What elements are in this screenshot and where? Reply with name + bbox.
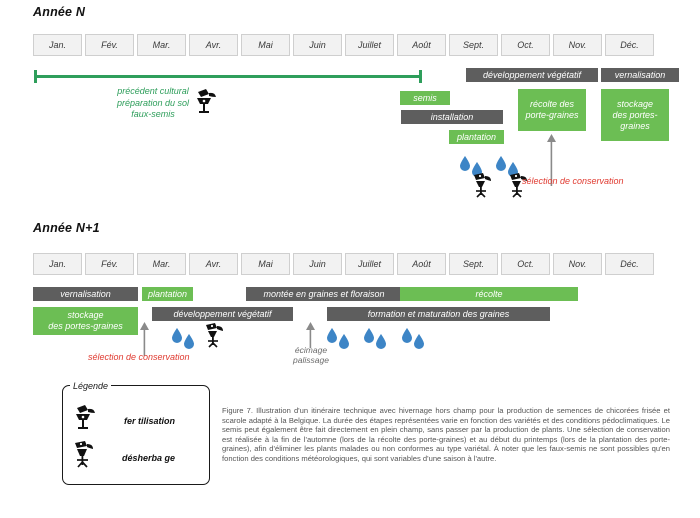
selection-conservation-label-n: sélection de conservation xyxy=(522,176,624,186)
month-cell-nov: Nov. xyxy=(553,253,602,275)
month-cell-fév: Fév. xyxy=(85,34,134,56)
desherbage-icon-n1-1 xyxy=(203,322,225,355)
month-cell-mar: Mar. xyxy=(137,34,186,56)
month-cell-déc: Déc. xyxy=(605,253,654,275)
month-cell-juillet: Juillet xyxy=(345,34,394,56)
month-cell-oct: Oct. xyxy=(501,253,550,275)
fertilisation-icon-n xyxy=(193,88,219,121)
month-cell-avr: Avr. xyxy=(189,34,238,56)
month-cell-mar: Mar. xyxy=(137,253,186,275)
year-n1-title: Année N+1 xyxy=(33,221,100,235)
bar-recolte-line2: porte-graines xyxy=(525,110,578,121)
month-cell-sept: Sept. xyxy=(449,253,498,275)
ecimage-label-line2: palissage xyxy=(272,355,350,365)
bar-montee-graines-floraison-n1: montée en graines et floraison xyxy=(246,287,402,301)
bar-developpement-vegetatif-n1: développement végétatif xyxy=(152,307,293,321)
bar-plantation-n: plantation xyxy=(449,130,504,144)
desherbage-icon xyxy=(72,440,96,475)
figure-canvas: Année N Jan.Fév.Mar.Avr.MaiJuinJuilletAo… xyxy=(0,0,700,518)
month-cell-fév: Fév. xyxy=(85,253,134,275)
month-cell-juin: Juin xyxy=(293,253,342,275)
span-end-cap-icon xyxy=(419,70,422,83)
year-n-title: Année N xyxy=(33,5,85,19)
precedent-cultural-span-line xyxy=(34,75,422,78)
month-row-year-n1: Jan.Fév.Mar.Avr.MaiJuinJuilletAoûtSept.O… xyxy=(33,253,654,275)
bar-stockage-line3: graines xyxy=(620,121,650,132)
legend-item-desherbage: désherba ge xyxy=(72,440,175,475)
precedent-cultural-label-line3: faux-semis xyxy=(98,109,208,121)
irrigation-drops-n1-3 xyxy=(362,327,392,354)
month-cell-déc: Déc. xyxy=(605,34,654,56)
fertilisation-icon xyxy=(72,404,98,437)
desherbage-icon-n-1 xyxy=(471,172,493,205)
month-cell-mai: Mai xyxy=(241,34,290,56)
bar-stockage-n1-line2: des portes-graines xyxy=(48,321,123,332)
legend-label-fertilisation: fer tilisation xyxy=(124,416,175,426)
month-cell-sept: Sept. xyxy=(449,34,498,56)
month-cell-nov: Nov. xyxy=(553,34,602,56)
bar-vernalisation-n1: vernalisation xyxy=(33,287,138,301)
precedent-cultural-label-line2: préparation du sol xyxy=(98,98,208,110)
bar-stockage-portes-graines-n: stockage des portes- graines xyxy=(601,89,669,141)
irrigation-drops-n1-1 xyxy=(170,327,200,354)
bar-recolte-n1: récolte xyxy=(400,287,578,301)
month-cell-avr: Avr. xyxy=(189,253,238,275)
month-cell-jan: Jan. xyxy=(33,253,82,275)
month-cell-jan: Jan. xyxy=(33,34,82,56)
month-row-year-n: Jan.Fév.Mar.Avr.MaiJuinJuilletAoûtSept.O… xyxy=(33,34,654,56)
bar-stockage-portes-graines-n1: stockage des portes-graines xyxy=(33,307,138,335)
bar-installation-n: installation xyxy=(401,110,503,124)
precedent-cultural-label-line1: précédent cultural xyxy=(98,86,208,98)
figure-caption: Figure 7. Illustration d'un itinéraire t… xyxy=(222,406,670,464)
legend-title: Légende xyxy=(70,381,111,391)
bar-recolte-line1: récolte des xyxy=(530,99,574,110)
bar-vernalisation-n: vernalisation xyxy=(601,68,679,82)
month-cell-juin: Juin xyxy=(293,34,342,56)
month-cell-août: Août xyxy=(397,34,446,56)
bar-stockage-line2: des portes- xyxy=(612,110,657,121)
month-cell-août: Août xyxy=(397,253,446,275)
bar-semis-n: semis xyxy=(400,91,450,105)
bar-formation-maturation-graines-n1: formation et maturation des graines xyxy=(327,307,550,321)
bar-plantation-n1: plantation xyxy=(142,287,193,301)
month-cell-mai: Mai xyxy=(241,253,290,275)
bar-stockage-line1: stockage xyxy=(617,99,653,110)
bar-stockage-n1-line1: stockage xyxy=(67,310,103,321)
irrigation-drops-n1-4 xyxy=(400,327,430,354)
legend-label-desherbage: désherba ge xyxy=(122,453,175,463)
month-cell-oct: Oct. xyxy=(501,34,550,56)
month-cell-juillet: Juillet xyxy=(345,253,394,275)
bar-recolte-porte-graines-n: récolte des porte-graines xyxy=(518,89,586,131)
legend-item-fertilisation: fer tilisation xyxy=(72,404,175,437)
irrigation-drops-n1-2 xyxy=(325,327,355,354)
bar-developpement-vegetatif-n: développement végétatif xyxy=(466,68,598,82)
